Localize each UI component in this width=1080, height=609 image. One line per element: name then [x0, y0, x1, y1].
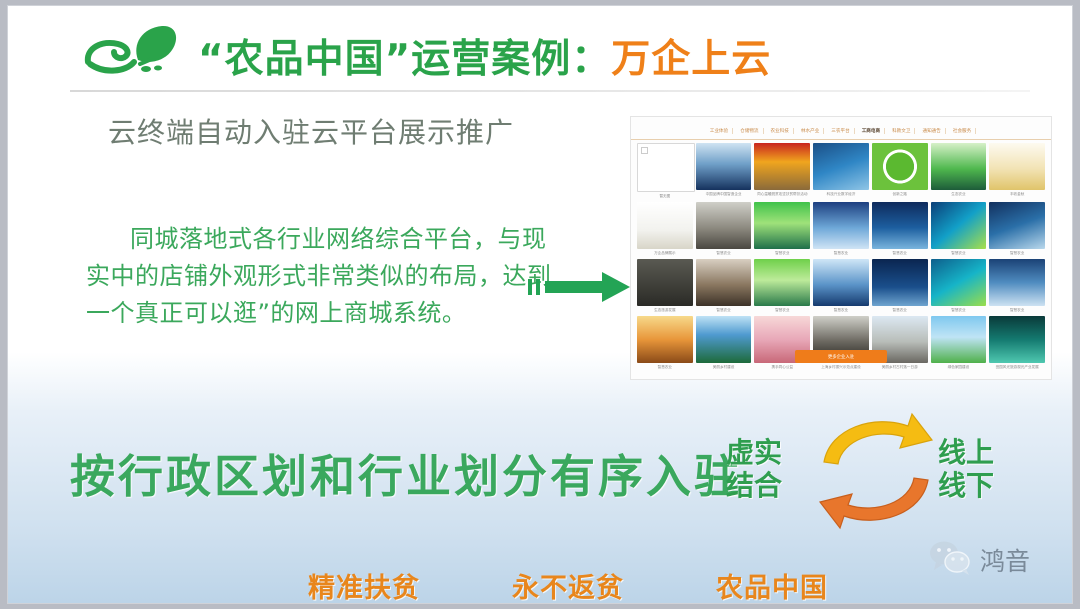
thumbnail-item[interactable]: 中国品牌中国智造企业 [696, 143, 752, 200]
slogan-2: 永不返贫 [512, 566, 624, 603]
thumbnail-item[interactable]: 暂无图 [637, 143, 693, 200]
thumbnail-item[interactable]: 智慧农业 [931, 259, 987, 314]
thumbnail-caption: 美丽乡村建设 [696, 365, 752, 371]
more-enterprises-button[interactable]: 更多企业入驻 [795, 350, 887, 363]
wechat-logo-icon [928, 541, 972, 579]
website-screenshot: 工业体验仓储物流农业科技林水产业三农平台工商电商科教文卫通知通告社会服务 暂无图… [630, 116, 1052, 380]
thumbnail-image [989, 143, 1045, 190]
thumbnail-item[interactable]: 绿色家园建设 [931, 316, 987, 371]
thumbnail-image [989, 202, 1045, 249]
slogan-3: 农品中国 [716, 566, 828, 603]
thumbnail-item[interactable]: 美丽乡村建设 [696, 316, 752, 371]
thumbnail-caption: 绿色家园建设 [931, 365, 987, 371]
thumbnail-item[interactable]: 智慧农业 [696, 202, 752, 257]
thumbnail-caption: 携手同心公益 [754, 365, 810, 371]
thumbnail-caption: 生态旅游发展 [637, 308, 693, 314]
cycle-diagram: 虚实 结合 线上 线下 [720, 410, 1020, 532]
cycle-left-label: 虚实 结合 [726, 436, 782, 502]
body-paragraph: 同城落地式各行业网络综合平台，与现实中的店铺外观形式非常类似的布局，达到一个真正… [86, 221, 556, 332]
thumbnail-image [872, 202, 928, 249]
site-nav-item[interactable]: 通知通告 [918, 128, 945, 134]
thumbnail-image [637, 316, 693, 363]
site-nav-item[interactable]: 工业体验 [706, 128, 733, 134]
thumbnail-image [754, 259, 810, 306]
header-divider [70, 90, 1030, 92]
thumbnail-image [989, 316, 1045, 363]
thumbnail-item[interactable]: 智慧农业 [931, 202, 987, 257]
thumbnail-caption: 暂无图 [637, 194, 693, 200]
thumbnail-image [813, 202, 869, 249]
thumbnail-item[interactable]: 田园风光旅游观光产业发展 [989, 316, 1045, 371]
thumbnail-caption: 智慧农业 [872, 308, 928, 314]
thumbnail-caption: 田园风光旅游观光产业发展 [989, 365, 1045, 371]
thumbnail-item[interactable]: 生态旅游发展 [637, 259, 693, 314]
slide-header: “农品中国”运营案例：万企上云 [8, 6, 1072, 92]
thumbnail-image [813, 259, 869, 306]
thumbnail-item[interactable]: 创新之路 [872, 143, 928, 200]
site-nav-item[interactable]: 科教文卫 [888, 128, 915, 134]
thumbnail-caption: 生态农业 [931, 192, 987, 198]
site-nav-item[interactable]: 社会服务 [949, 128, 976, 134]
yellow-curved-arrow-icon [824, 414, 932, 464]
thumbnail-item[interactable]: 同心温暖脱贫攻坚扶贫帮扶活动 [754, 143, 810, 200]
thumbnail-item[interactable]: 智慧农业 [754, 259, 810, 314]
thumbnail-item[interactable]: 智慧农业 [813, 259, 869, 314]
thumbnail-image [872, 143, 928, 190]
green-right-arrow-icon [528, 268, 632, 306]
cycle-left-line2: 结合 [726, 469, 782, 502]
thumbnail-item[interactable]: 智慧农业 [813, 202, 869, 257]
thumbnail-caption: 同心温暖脱贫攻坚扶贫帮扶活动 [754, 192, 810, 198]
wechat-watermark: 鸿音 [928, 541, 1030, 579]
thumbnail-item[interactable]: 智慧农业 [637, 316, 693, 371]
thumbnail-item[interactable]: 生态农业 [931, 143, 987, 200]
thumbnail-image [754, 202, 810, 249]
thumbnail-image [931, 316, 987, 363]
thumbnail-item[interactable]: 万企品牌展示 [637, 202, 693, 257]
site-nav-bar: 工业体验仓储物流农业科技林水产业三农平台工商电商科教文卫通知通告社会服务 [631, 123, 1051, 140]
thumbnail-item[interactable]: 智慧农业 [989, 259, 1045, 314]
thumbnail-image [989, 259, 1045, 306]
thumbnail-image [754, 143, 810, 190]
thumbnail-item[interactable]: 智慧农业 [696, 259, 752, 314]
thumbnail-caption: 中国品牌中国智造企业 [696, 192, 752, 198]
thumbnail-caption: 智慧农业 [754, 251, 810, 257]
thumbnail-caption: 智慧农业 [754, 308, 810, 314]
thumbnail-image [637, 202, 693, 249]
thumbnail-caption: 智慧农业 [813, 251, 869, 257]
thumbnail-image [696, 259, 752, 306]
thumbnail-caption: 智慧农业 [637, 365, 693, 371]
thumbnail-caption: 万企品牌展示 [637, 251, 693, 257]
thumbnail-item[interactable]: 丰收金秋 [989, 143, 1045, 200]
title-orange-part: 万企上云 [611, 37, 771, 82]
cycle-left-line1: 虚实 [726, 436, 782, 469]
title-green-part: “农品中国”运营案例： [198, 37, 611, 82]
thumbnail-image [696, 202, 752, 249]
thumbnail-item[interactable]: 智慧农业 [872, 202, 928, 257]
wechat-account-name: 鸿音 [980, 542, 1030, 578]
thumbnail-caption: 创新之路 [872, 192, 928, 198]
thumbnail-image [813, 143, 869, 190]
thumbnail-image [696, 143, 752, 190]
orange-curved-arrow-icon [820, 478, 928, 528]
site-nav-item[interactable]: 三农平台 [827, 128, 854, 134]
thumbnail-item[interactable]: 智慧农业 [754, 202, 810, 257]
thumbnail-caption: 智慧农业 [931, 251, 987, 257]
thumbnail-caption: 上海乡村振兴示范点建设 [813, 365, 869, 371]
site-nav-item[interactable]: 工商电商 [858, 128, 885, 134]
thumbnail-caption: 智慧农业 [989, 308, 1045, 314]
thumbnail-item[interactable]: 智慧农业 [872, 259, 928, 314]
thumbnail-image [637, 259, 693, 306]
page-title: “农品中国”运营案例：万企上云 [198, 28, 771, 84]
thumbnail-image [696, 316, 752, 363]
thumbnail-grid: 暂无图中国品牌中国智造企业同心温暖脱贫攻坚扶贫帮扶活动科技兴业数字经济创新之路生… [637, 143, 1045, 371]
subheading: 云终端自动入驻云平台展示推广 [108, 111, 514, 151]
sprout-leaf-logo-icon [80, 22, 188, 84]
slogan-row: 精准扶贫 永不返贫 农品中国 [308, 566, 828, 603]
thumbnail-item[interactable]: 科技兴业数字经济 [813, 143, 869, 200]
site-nav-item[interactable]: 仓储物流 [736, 128, 763, 134]
thumbnail-image [637, 143, 695, 192]
cycle-right-line2: 线下 [938, 469, 994, 502]
thumbnail-caption: 智慧农业 [931, 308, 987, 314]
thumbnail-item[interactable]: 智慧农业 [989, 202, 1045, 257]
thumbnail-caption: 智慧农业 [813, 308, 869, 314]
bottom-headline: 按行政区划和行业划分有序入驻 [70, 440, 742, 505]
thumbnail-caption: 美丽乡村古村落一日游 [872, 365, 928, 371]
slogan-1: 精准扶贫 [308, 566, 420, 603]
cycle-right-line1: 线上 [938, 436, 994, 469]
thumbnail-caption: 智慧农业 [696, 308, 752, 314]
thumbnail-image [931, 202, 987, 249]
thumbnail-caption: 科技兴业数字经济 [813, 192, 869, 198]
site-nav-item[interactable]: 农业科技 [767, 128, 794, 134]
thumbnail-caption: 丰收金秋 [989, 192, 1045, 198]
thumbnail-image [872, 259, 928, 306]
thumbnail-caption: 智慧农业 [872, 251, 928, 257]
thumbnail-caption: 智慧农业 [989, 251, 1045, 257]
site-nav-item[interactable]: 林水产业 [797, 128, 824, 134]
thumbnail-image [931, 259, 987, 306]
thumbnail-image [931, 143, 987, 190]
presentation-slide: “农品中国”运营案例：万企上云 云终端自动入驻云平台展示推广 同城落地式各行业网… [8, 6, 1072, 603]
thumbnail-caption: 智慧农业 [696, 251, 752, 257]
cycle-right-label: 线上 线下 [938, 436, 994, 502]
